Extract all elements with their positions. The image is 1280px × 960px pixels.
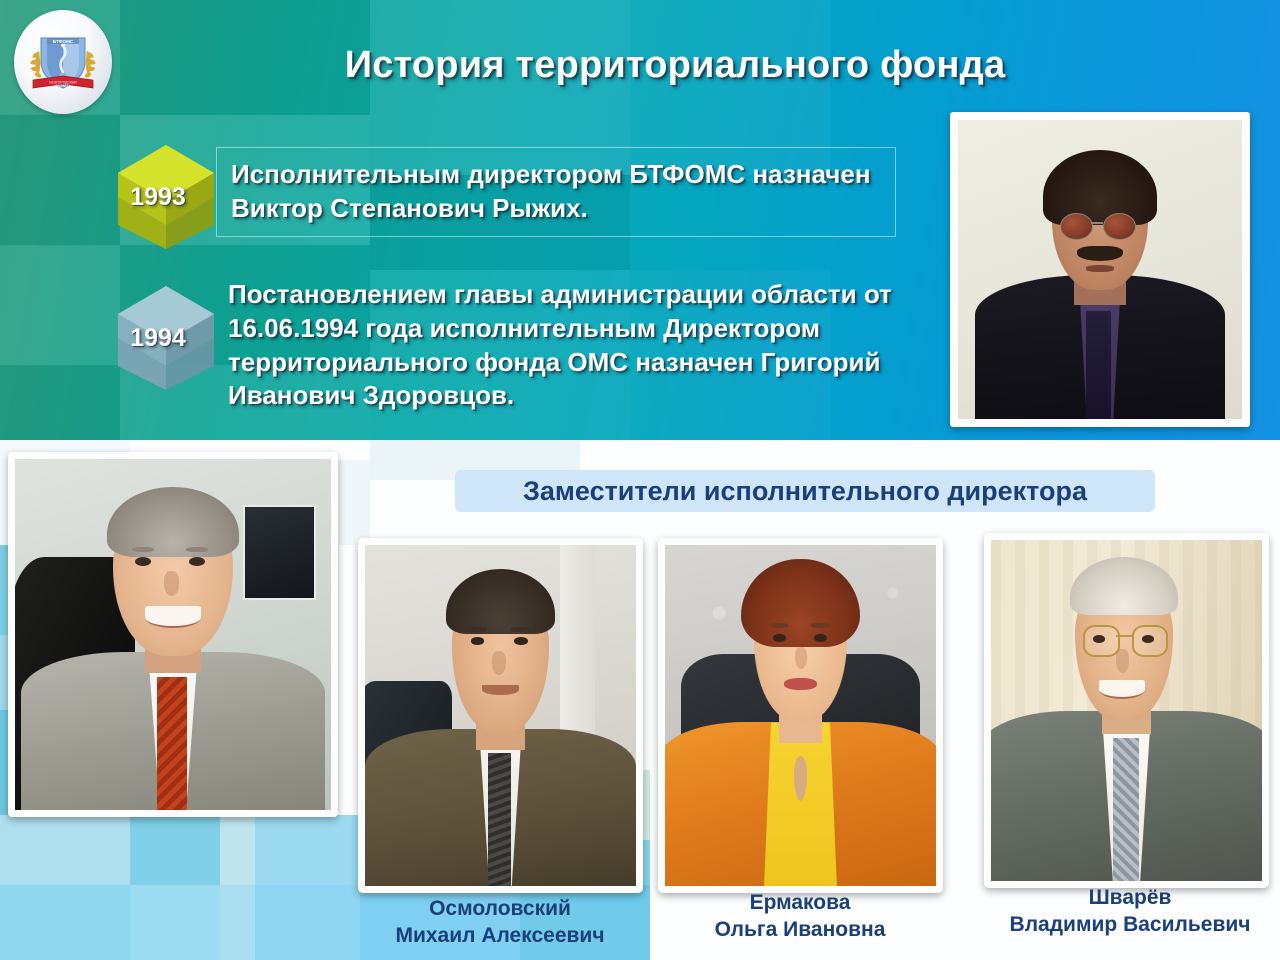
timeline-text-1994: Постановлением главы администрации облас…	[228, 278, 958, 413]
bg-tile	[255, 815, 360, 885]
page-title: История территориального фонда	[150, 44, 1200, 87]
year-label: 1994	[110, 282, 222, 394]
mouth-shape	[1086, 265, 1114, 272]
bg-tile	[0, 815, 130, 885]
wall-picture-shape	[243, 505, 317, 600]
bg-tile	[130, 815, 220, 885]
nose-shape	[492, 651, 506, 675]
eye-left	[773, 634, 785, 642]
caption-given-name: Михаил Алексеевич	[350, 923, 650, 950]
photo-ryzhikh-image	[958, 120, 1242, 419]
photo-osmolovsky-image	[365, 545, 636, 886]
eye-right	[514, 637, 528, 645]
smile-shape	[482, 685, 520, 695]
mustache-shape	[1077, 246, 1122, 261]
bg-tile	[0, 885, 130, 960]
tie-shape	[488, 753, 511, 886]
eyeglasses-bridge	[1116, 635, 1132, 637]
organization-logo: БТФОМС БЕЛГОРОДСКАЯ ОБЛАСТЬ	[14, 10, 112, 114]
photo-ermakova	[658, 538, 943, 893]
photo-zdorovtsov	[8, 452, 338, 817]
eyebrow-right	[511, 627, 530, 632]
btfoms-emblem-icon: БТФОМС БЕЛГОРОДСКАЯ ОБЛАСТЬ	[25, 22, 101, 102]
bg-tile	[0, 365, 120, 440]
caption-surname: Шварёв	[980, 885, 1280, 912]
presentation-slide: БТФОМС БЕЛГОРОДСКАЯ ОБЛАСТЬ История терр…	[0, 0, 1280, 960]
blouse-shape	[757, 722, 844, 886]
lips-shape	[784, 678, 817, 690]
deputies-banner: Заместители исполнительного директора	[455, 470, 1155, 512]
bg-tile	[255, 885, 360, 960]
nose-shape	[164, 571, 180, 596]
eyebrow-left	[771, 623, 789, 628]
bg-tile	[220, 885, 255, 960]
sunglasses-right-lens	[1103, 213, 1136, 240]
bg-tile	[0, 245, 120, 365]
tie-shape	[1113, 738, 1139, 881]
tie-shape	[157, 677, 187, 810]
bg-tile	[220, 815, 255, 885]
caption-given-name: Владимир Васильевич	[980, 912, 1280, 939]
photo-ryzhikh	[950, 112, 1250, 427]
wall-panel-shape	[560, 545, 595, 743]
sunglasses-bridge	[1091, 222, 1102, 224]
bg-tile	[0, 115, 120, 245]
caption-osmolovsky: Осмоловский Михаил Алексеевич	[350, 896, 650, 950]
year-marker-1993: 1993	[110, 141, 222, 253]
photo-ermakova-image	[665, 545, 936, 886]
eye-right	[1142, 635, 1154, 643]
photo-shvarev	[984, 533, 1269, 888]
caption-surname: Ермакова	[650, 890, 950, 917]
eyebrow-left	[468, 627, 487, 632]
svg-text:ОБЛАСТЬ: ОБЛАСТЬ	[55, 84, 72, 88]
photo-zdorovtsov-image	[15, 459, 331, 810]
timeline-text-1993: Исполнительным директором БТФОМС назначе…	[216, 147, 896, 237]
caption-ermakova: Ермакова Ольга Ивановна	[650, 890, 950, 944]
nose-shape	[1116, 649, 1130, 673]
bg-tile	[130, 885, 220, 960]
year-marker-1994: 1994	[110, 282, 222, 394]
caption-given-name: Ольга Ивановна	[650, 917, 950, 944]
caption-surname: Осмоловский	[350, 896, 650, 923]
year-label: 1993	[110, 141, 222, 253]
photo-shvarev-image	[991, 540, 1262, 881]
caption-shvarev: Шварёв Владимир Васильевич	[980, 885, 1280, 939]
eyebrow-right	[186, 547, 208, 553]
eye-left	[471, 637, 485, 645]
smile-shape	[145, 606, 202, 627]
eyebrow-right	[811, 623, 829, 628]
photo-osmolovsky	[358, 538, 643, 893]
eye-right	[814, 634, 826, 642]
smile-shape	[1099, 680, 1145, 699]
svg-text:БТФОМС: БТФОМС	[53, 39, 74, 44]
tie-shape	[1086, 311, 1112, 419]
